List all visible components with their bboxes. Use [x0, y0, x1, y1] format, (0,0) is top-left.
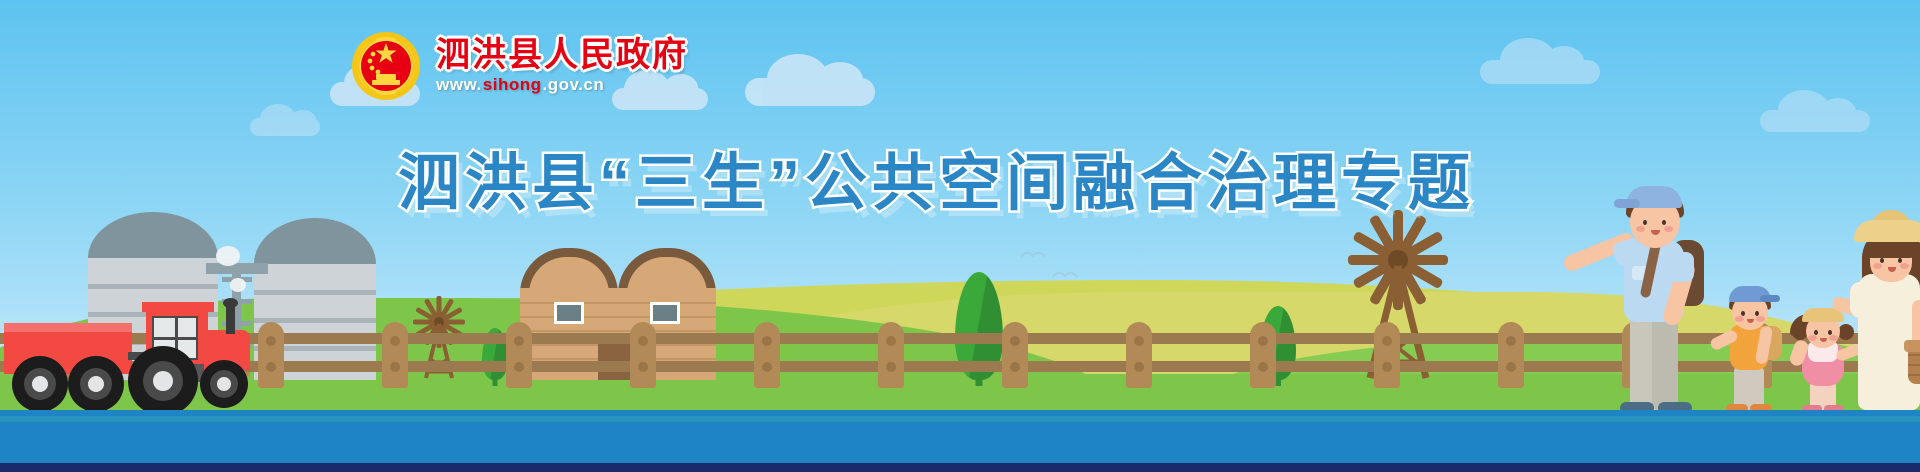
silo-roof — [88, 212, 218, 258]
family-father — [1596, 180, 1726, 410]
tractor-exhaust-pipe — [226, 304, 235, 334]
bird-icon — [1052, 268, 1078, 280]
url-highlight: sihong — [483, 75, 542, 95]
bottom-teal-accent — [0, 416, 1920, 422]
red-tractor — [4, 300, 244, 412]
fence-post — [1374, 322, 1400, 388]
father-leg — [1652, 314, 1678, 410]
gov-name-text: 泗洪县人民政府 — [436, 37, 688, 74]
smoke-puff-icon — [230, 278, 246, 292]
fence-post — [506, 322, 532, 388]
tree-trunk — [493, 376, 498, 386]
straw-hat-icon — [1854, 220, 1920, 242]
cloud-icon — [250, 118, 320, 136]
trailer-wheel — [12, 356, 68, 412]
government-logo[interactable]: 泗洪县人民政府 www.sihong.gov.cn — [350, 30, 688, 102]
cloud-icon — [1760, 110, 1870, 132]
bird-icon — [1020, 248, 1046, 260]
bottom-navy-bar — [0, 463, 1920, 472]
fence-post — [754, 322, 780, 388]
smoke-puff-icon — [216, 246, 240, 266]
cloud-icon — [1480, 60, 1600, 84]
fence-post — [878, 322, 904, 388]
tractor-rear-wheel — [128, 346, 198, 416]
family-boy — [1714, 290, 1788, 410]
tree-trunk — [976, 374, 983, 386]
boy-cap-brim — [1760, 295, 1780, 302]
url-suffix: .gov.cn — [542, 75, 604, 95]
father-sleeve — [1668, 252, 1694, 282]
fence-post — [1002, 322, 1028, 388]
fence-post — [630, 322, 656, 388]
url-prefix: www. — [436, 75, 482, 95]
trailer-lip — [4, 323, 132, 332]
fence-post — [1498, 322, 1524, 388]
national-emblem-icon — [350, 30, 422, 102]
picnic-basket-lid — [1904, 340, 1920, 352]
father-cap-brim — [1614, 199, 1640, 208]
fence-post — [1126, 322, 1152, 388]
gov-site-banner: 泗洪县人民政府 www.sihong.gov.cn 泗洪县“三生”公共空间融合治… — [0, 0, 1920, 472]
fence-post — [382, 322, 408, 388]
tractor-front-wheel — [200, 360, 248, 408]
gov-url-text[interactable]: www.sihong.gov.cn — [436, 75, 688, 95]
page-title: 泗洪县“三生”公共空间融合治理专题 — [398, 132, 1475, 222]
silo-roof — [254, 218, 376, 264]
fence-post — [258, 322, 284, 388]
mother-sleeve — [1850, 282, 1876, 318]
family-mother — [1846, 196, 1920, 410]
cloud-icon — [745, 78, 875, 106]
fence-post — [1250, 322, 1276, 388]
barn-window — [554, 302, 584, 324]
tractor-exhaust-tip — [223, 298, 238, 308]
trailer-wheel — [68, 356, 124, 412]
barn-window — [650, 302, 680, 324]
tractor-cab-roof — [142, 302, 214, 312]
